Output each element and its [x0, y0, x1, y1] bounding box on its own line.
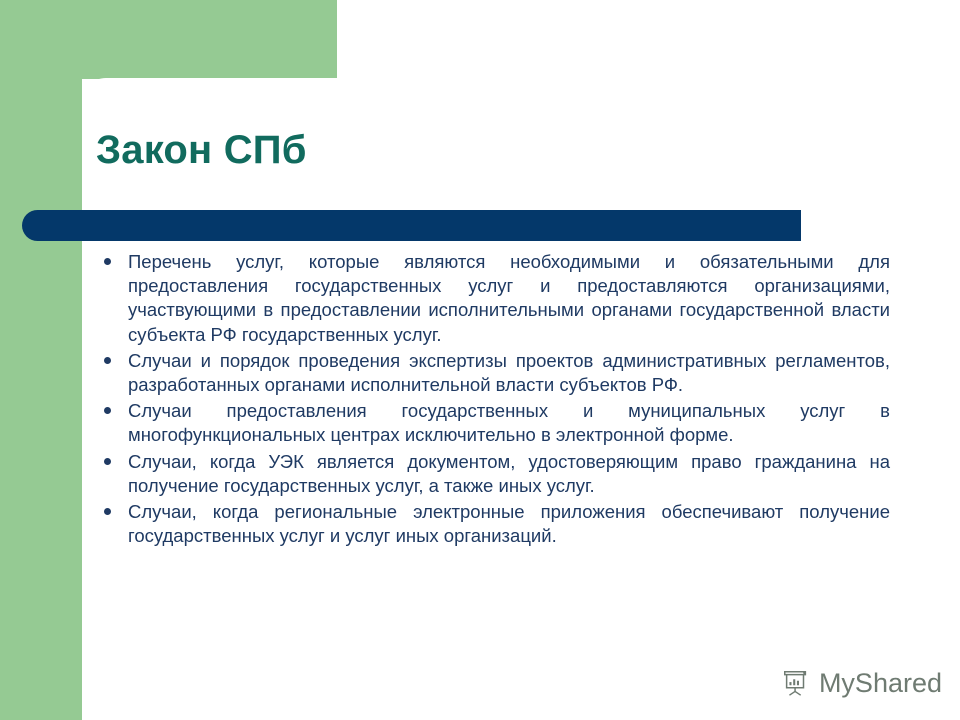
list-item: Случаи, когда региональные электронные п… — [100, 500, 890, 548]
list-item: Перечень услуг, которые являются необход… — [100, 250, 890, 347]
bullet-dot-icon — [104, 458, 111, 465]
green-top-band-decoration — [0, 0, 337, 79]
myshared-watermark: MyShared — [781, 668, 942, 698]
bullet-dot-icon — [104, 357, 111, 364]
list-item-text: Случаи предоставления государственных и … — [128, 400, 890, 445]
watermark-label: MyShared — [819, 670, 942, 697]
green-left-strip-decoration — [0, 0, 82, 720]
slide-title: Закон СПб — [96, 128, 796, 172]
bullet-list: Перечень услуг, которые являются необход… — [100, 250, 890, 550]
presentation-chart-icon — [781, 668, 811, 698]
bullet-dot-icon — [104, 258, 111, 265]
bullet-dot-icon — [104, 407, 111, 414]
list-item: Случаи предоставления государственных и … — [100, 399, 890, 447]
list-item-text: Перечень услуг, которые являются необход… — [128, 251, 890, 345]
list-item: Случаи, когда УЭК является документом, у… — [100, 450, 890, 498]
bullet-dot-icon — [104, 508, 111, 515]
list-item-text: Случаи, когда УЭК является документом, у… — [128, 451, 890, 496]
title-divider-bar — [22, 210, 801, 241]
list-item: Случаи и порядок проведения экспертизы п… — [100, 349, 890, 397]
presentation-slide: Закон СПб Перечень услуг, которые являют… — [0, 0, 960, 720]
list-item-text: Случаи, когда региональные электронные п… — [128, 501, 890, 546]
list-item-text: Случаи и порядок проведения экспертизы п… — [128, 350, 890, 395]
